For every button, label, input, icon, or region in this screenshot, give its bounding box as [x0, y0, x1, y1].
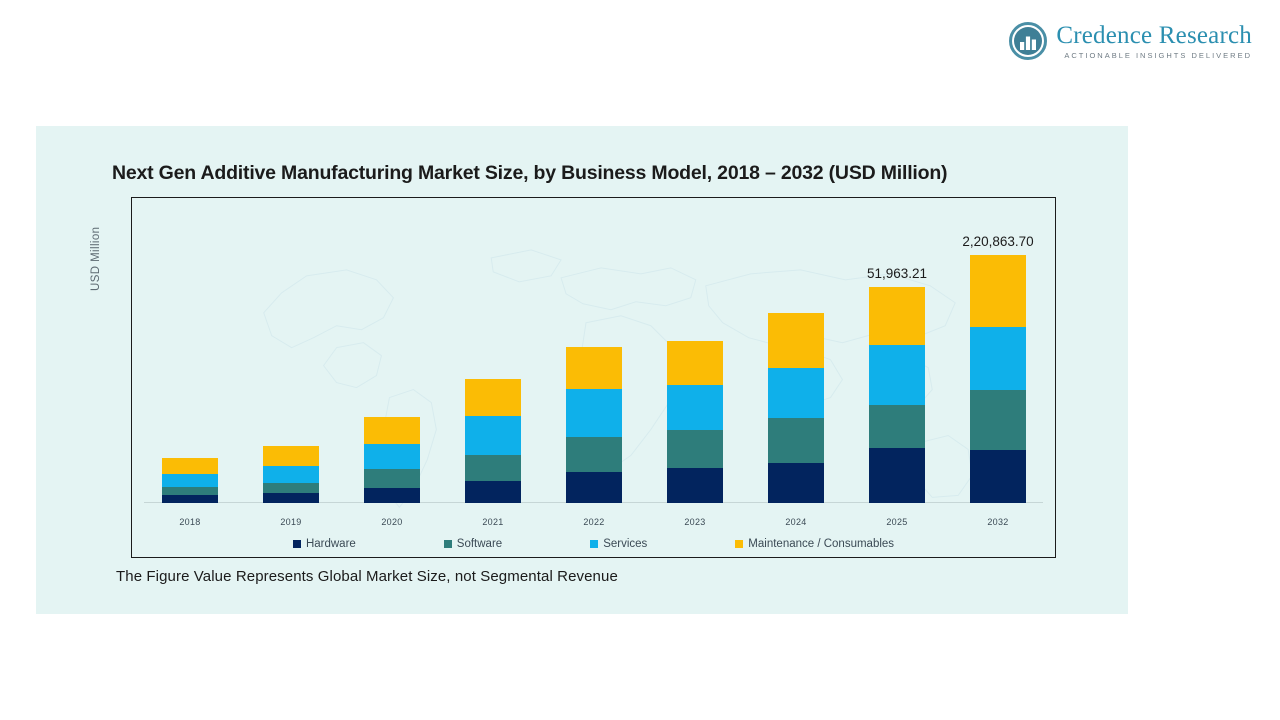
segment-hardware [768, 463, 824, 503]
segment-maintenance-consumables [970, 255, 1026, 327]
segment-maintenance-consumables [465, 379, 521, 416]
segment-hardware [869, 448, 925, 503]
segment-services [970, 327, 1026, 390]
brand-tagline: Actionable Insights Delivered [1056, 52, 1252, 60]
bar-2023[interactable] [667, 341, 723, 503]
bar-2025[interactable]: 51,963.21 [869, 287, 925, 503]
segment-software [970, 390, 1026, 450]
segment-software [869, 405, 925, 448]
segment-maintenance-consumables [263, 446, 319, 466]
legend-swatch-software [444, 540, 452, 548]
segment-maintenance-consumables [667, 341, 723, 385]
legend-label-services: Services [603, 538, 647, 550]
chart-panel: Next Gen Additive Manufacturing Market S… [36, 126, 1128, 614]
segment-maintenance-consumables [566, 347, 622, 389]
segment-services [869, 345, 925, 405]
legend-swatch-hardware [293, 540, 301, 548]
segment-services [263, 466, 319, 483]
segment-hardware [162, 495, 218, 503]
bars-area: 2018 2019 2020 [132, 198, 1055, 557]
segment-software [768, 418, 824, 463]
segment-services [465, 416, 521, 455]
legend-label-software: Software [457, 538, 502, 550]
bar-2019[interactable] [263, 446, 319, 503]
segment-maintenance-consumables [364, 417, 420, 444]
chart-footnote: The Figure Value Represents Global Marke… [116, 568, 618, 585]
segment-hardware [364, 488, 420, 503]
segment-software [162, 487, 218, 495]
segment-software [667, 430, 723, 468]
legend-swatch-maintenance-consumables [735, 540, 743, 548]
segment-hardware [970, 450, 1026, 503]
y-axis-label: USD Million [90, 227, 102, 291]
segment-services [667, 385, 723, 430]
segment-software [364, 469, 420, 488]
segment-maintenance-consumables [162, 458, 218, 474]
segment-services [768, 368, 824, 418]
legend-item-hardware[interactable]: Hardware [293, 538, 356, 550]
chart-title: Next Gen Additive Manufacturing Market S… [112, 162, 947, 185]
bar-2032[interactable]: 2,20,863.70 [970, 255, 1026, 503]
x-tick-2020: 2020 [364, 517, 420, 527]
chart-legend: Hardware Software Services Maintenance /… [132, 538, 1055, 550]
bar-chart-circle-icon [1009, 22, 1047, 60]
x-tick-2032: 2032 [970, 517, 1026, 527]
segment-services [364, 444, 420, 469]
segment-services [566, 389, 622, 437]
legend-swatch-services [590, 540, 598, 548]
legend-label-hardware: Hardware [306, 538, 356, 550]
legend-item-services[interactable]: Services [590, 538, 647, 550]
brand-name: Credence Research [1056, 23, 1252, 48]
bar-value-label-2025: 51,963.21 [867, 266, 927, 281]
x-tick-2023: 2023 [667, 517, 723, 527]
segment-hardware [566, 472, 622, 503]
bar-2018[interactable] [162, 458, 218, 503]
bar-2021[interactable] [465, 379, 521, 503]
legend-item-maintenance-consumables[interactable]: Maintenance / Consumables [735, 538, 894, 550]
bar-2020[interactable] [364, 417, 420, 503]
segment-hardware [465, 481, 521, 503]
x-tick-2025: 2025 [869, 517, 925, 527]
x-tick-2024: 2024 [768, 517, 824, 527]
x-tick-2021: 2021 [465, 517, 521, 527]
segment-software [465, 455, 521, 481]
segment-hardware [263, 493, 319, 503]
legend-label-maintenance-consumables: Maintenance / Consumables [748, 538, 894, 550]
x-tick-2019: 2019 [263, 517, 319, 527]
brand-logo: Credence Research Actionable Insights De… [1009, 22, 1252, 60]
segment-maintenance-consumables [768, 313, 824, 368]
plot-frame: 2018 2019 2020 [131, 197, 1056, 558]
segment-software [566, 437, 622, 472]
x-tick-2018: 2018 [162, 517, 218, 527]
bar-value-label-2032: 2,20,863.70 [962, 234, 1033, 249]
segment-software [263, 483, 319, 493]
legend-item-software[interactable]: Software [444, 538, 502, 550]
segment-maintenance-consumables [869, 287, 925, 345]
bar-2022[interactable] [566, 347, 622, 503]
segment-services [162, 474, 218, 487]
segment-hardware [667, 468, 723, 503]
x-tick-2022: 2022 [566, 517, 622, 527]
bar-2024[interactable] [768, 313, 824, 503]
